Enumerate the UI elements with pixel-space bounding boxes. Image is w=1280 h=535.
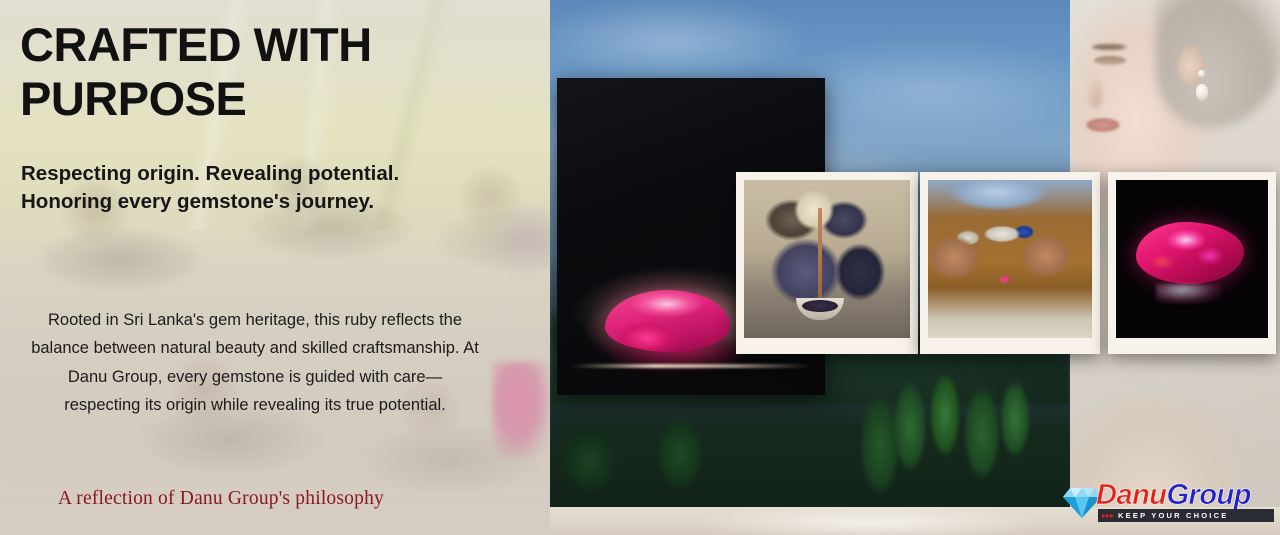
earring-stud xyxy=(1198,70,1205,77)
eyebrow xyxy=(1092,44,1126,50)
logo-group-text: Group xyxy=(1167,479,1252,511)
logo-slogan-bar: ▸▸▸ KEEP YOUR CHOICE xyxy=(1098,509,1274,522)
ear xyxy=(1178,46,1204,86)
closed-eye xyxy=(1094,56,1126,65)
pearl-earring-icon xyxy=(1196,84,1208,101)
nose xyxy=(1086,76,1104,110)
logo-slogan: KEEP YOUR CHOICE xyxy=(1118,509,1228,522)
artisan-washing-gems-photo xyxy=(744,180,910,338)
ruby-reflection xyxy=(1156,284,1222,304)
logo-danu-text: Danu xyxy=(1096,479,1167,511)
strip-sheen xyxy=(670,507,1090,535)
polaroid-artisan-washing-gems[interactable] xyxy=(736,172,918,354)
danu-group-logo[interactable]: DanuGroup ▸▸▸ KEEP YOUR CHOICE xyxy=(1062,478,1270,526)
subheadline: Respecting origin. Revealing potential. … xyxy=(21,160,531,217)
left-text-panel: CRAFTED WITH PURPOSE Respecting origin. … xyxy=(0,0,550,535)
gemstone-in-hand xyxy=(1000,276,1009,283)
faceted-ruby-on-black-photo xyxy=(1116,180,1268,338)
arrows-icon: ▸▸▸ xyxy=(1102,509,1114,522)
logo-wordmark: DanuGroup xyxy=(1096,478,1251,512)
page-title: CRAFTED WITH PURPOSE xyxy=(20,18,520,126)
polaroid-faceted-ruby[interactable] xyxy=(1108,172,1276,354)
body-paragraph: Rooted in Sri Lanka's gem heritage, this… xyxy=(30,306,480,420)
philosophy-tagline: A reflection of Danu Group's philosophy xyxy=(58,488,384,510)
table-edge-highlight xyxy=(571,364,811,368)
hands-sorting-gemstones-photo xyxy=(928,180,1092,338)
faceted-ruby xyxy=(1136,222,1244,284)
lips xyxy=(1086,118,1120,132)
crafted-with-purpose-banner: CRAFTED WITH PURPOSE Respecting origin. … xyxy=(0,0,1280,535)
bowl-contents xyxy=(802,300,838,312)
polaroid-hands-sorting-gemstones[interactable] xyxy=(920,172,1100,354)
pink-gemstone xyxy=(605,290,730,352)
